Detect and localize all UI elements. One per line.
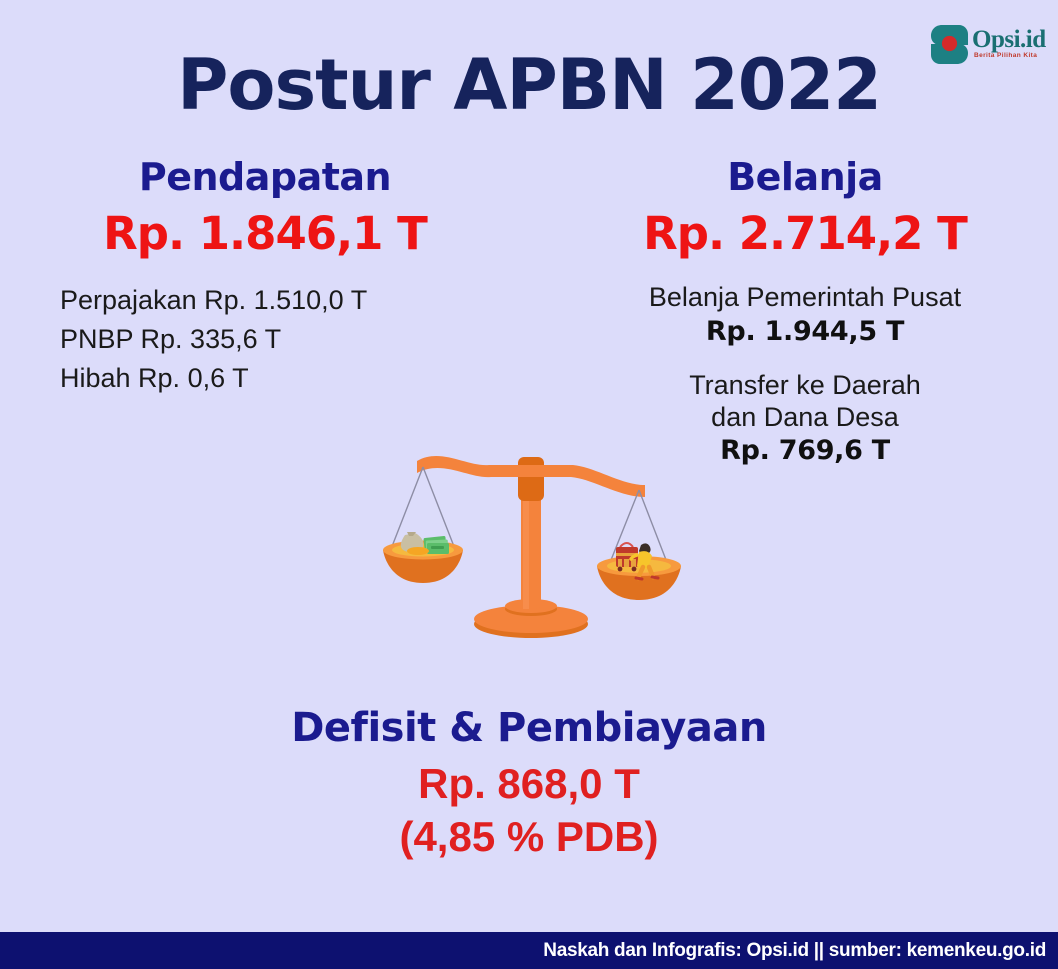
spending-amount: Rp. 2.714,2 T: [570, 210, 1040, 257]
infographic-root: Opsi.id Berita Pilihan Kita Postur APBN …: [0, 0, 1058, 969]
spending-item-value: Rp. 1.944,5 T: [570, 314, 1040, 349]
revenue-heading: Pendapatan: [30, 158, 500, 198]
list-item: Perpajakan Rp. 1.510,0 T: [60, 281, 500, 320]
footer-credit: Naskah dan Infografis: Opsi.id || sumber…: [543, 940, 1058, 962]
spending-heading: Belanja: [570, 158, 1040, 198]
list-item: Belanja Pemerintah Pusat Rp. 1.944,5 T: [570, 281, 1040, 348]
spending-item-label: Belanja Pemerintah Pusat: [570, 281, 1040, 313]
revenue-amount: Rp. 1.846,1 T: [30, 210, 500, 257]
deficit-section: Defisit & Pembiayaan Rp. 868,0 T (4,85 %…: [0, 706, 1058, 863]
footer-bar: Naskah dan Infografis: Opsi.id || sumber…: [0, 932, 1058, 969]
spending-section: Belanja Rp. 2.714,2 T Belanja Pemerintah…: [570, 158, 1040, 469]
revenue-breakdown-list: Perpajakan Rp. 1.510,0 T PNBP Rp. 335,6 …: [30, 281, 500, 398]
revenue-section: Pendapatan Rp. 1.846,1 T Perpajakan Rp. …: [30, 158, 500, 399]
page-title: Postur APBN 2022: [0, 44, 1058, 126]
spending-item-label: Transfer ke Daerah dan Dana Desa: [570, 369, 1040, 434]
deficit-heading: Defisit & Pembiayaan: [0, 706, 1058, 750]
deficit-percent: (4,85 % PDB): [0, 811, 1058, 864]
deficit-amount: Rp. 868,0 T: [0, 758, 1058, 811]
balance-scale-illustration: [371, 437, 691, 642]
list-item: PNBP Rp. 335,6 T: [60, 320, 500, 359]
money-bag-and-cash-icon: [401, 532, 449, 555]
list-item: Hibah Rp. 0,6 T: [60, 359, 500, 398]
